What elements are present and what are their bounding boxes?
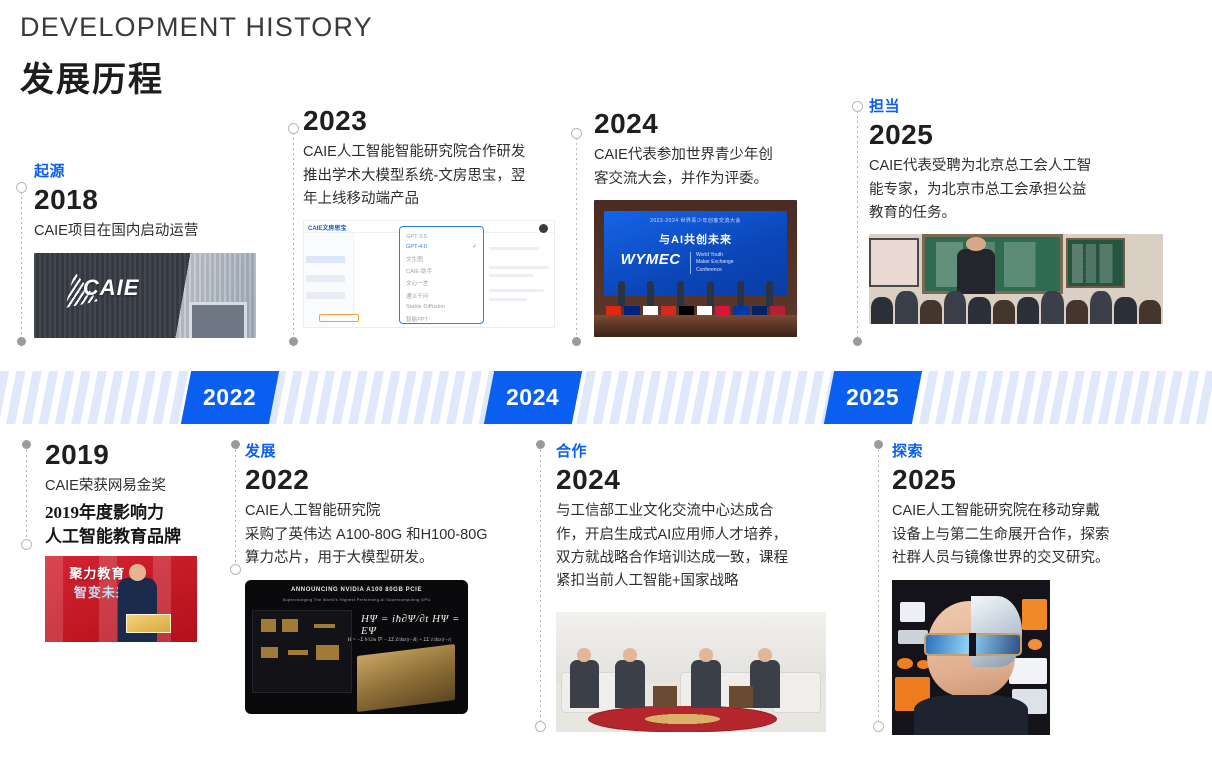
chip-icon xyxy=(314,624,336,628)
connector-dot-solid xyxy=(17,337,26,346)
chat-message-line xyxy=(489,266,549,269)
band-year-marker-2025[interactable]: 2025 xyxy=(824,371,922,424)
award-plaque xyxy=(126,614,172,633)
prompt-chip[interactable] xyxy=(319,314,359,322)
event-image-conference[interactable]: 2023-2024 世界青少年创客交流大会 与AI共创未来 WYMEC Worl… xyxy=(594,200,797,337)
connector-line xyxy=(21,182,22,346)
chat-message-line xyxy=(489,274,534,277)
band-year-label: 2025 xyxy=(846,384,899,411)
attendee-figure xyxy=(570,660,600,708)
chat-message-line xyxy=(489,298,527,301)
event-award-name: 2019年度影响力 人工智能教育品牌 xyxy=(45,501,235,550)
gpu-equation: HΨ = iħ∂Ψ/∂t HΨ = EΨ xyxy=(361,613,461,637)
carpet xyxy=(588,706,777,732)
connector-line xyxy=(26,440,27,550)
menu-item-model[interactable]: Stable Diffusion xyxy=(400,302,483,312)
app-brand-label: CAIE文房思宝 xyxy=(308,223,346,232)
connector-line xyxy=(235,440,236,575)
ui-panel xyxy=(897,658,913,669)
event-description: CAIE人工智能研究院在移动穿戴 设备上与第二生命展开合作，探索 社群人员与镜像… xyxy=(892,500,1182,570)
character-body xyxy=(914,695,1028,735)
stage-people xyxy=(606,274,785,307)
connector-dot-solid xyxy=(231,440,240,449)
connector-dot-solid xyxy=(289,337,298,346)
menu-item-model-selected[interactable]: ✓ GPT-4.0 xyxy=(400,242,483,252)
page-title-chinese: 发展历程 xyxy=(20,52,164,101)
chip-icon xyxy=(261,647,279,658)
connector-dot-hollow xyxy=(288,123,299,134)
event-tag: 探索 xyxy=(892,440,1182,461)
band-year-marker-2022[interactable]: 2022 xyxy=(181,371,279,424)
attendee-figure xyxy=(615,660,645,708)
event-year: 2025 xyxy=(892,463,1182,496)
event-year: 2022 xyxy=(245,463,535,496)
event-tag: 起源 xyxy=(34,160,259,181)
event-card-2022[interactable]: 发展 2022 CAIE人工智能研究院 采购了英伟达 A100-80G 和H10… xyxy=(245,440,535,714)
chip-icon xyxy=(316,645,340,660)
event-year: 2024 xyxy=(594,107,809,140)
country-flags xyxy=(606,306,785,315)
chat-message-line xyxy=(489,289,544,292)
conference-logo-english: World Youth Maker Exchange Conference xyxy=(690,252,734,275)
event-tag: 发展 xyxy=(245,440,535,461)
connector-line xyxy=(293,123,294,346)
ui-panel xyxy=(1022,599,1047,630)
connector-dot-hollow xyxy=(16,182,27,193)
conference-slogan: 与AI共创未来 xyxy=(604,231,787,247)
menu-item-model[interactable]: 文生图 xyxy=(400,252,483,264)
connector-line xyxy=(857,101,858,346)
connector-line xyxy=(540,440,541,732)
menu-item-model[interactable]: 智能PPT xyxy=(400,312,483,324)
side-table xyxy=(653,686,677,708)
event-image-award[interactable]: 聚力教育 智变未来 xyxy=(45,556,197,642)
event-year: 2018 xyxy=(34,183,259,216)
check-icon: ✓ xyxy=(472,244,477,250)
model-select-dropdown[interactable]: GPT-3.5 ✓ GPT-4.0 文生图 CAIE·助手 文心一言 通义千问 … xyxy=(399,226,484,325)
sidebar-conversation-item[interactable] xyxy=(306,275,344,282)
connector-dot-solid xyxy=(853,337,862,346)
building-window xyxy=(189,302,247,338)
ar-glasses-icon xyxy=(924,633,1022,656)
timeline-infographic: DEVELOPMENT HISTORY 发展历程 起源 2018 CAIE项目在… xyxy=(0,0,1212,761)
connector-dot-solid xyxy=(536,440,545,449)
connector-rail-2019 xyxy=(21,440,32,550)
chalk-writing xyxy=(1072,244,1118,283)
event-description: CAIE项目在国内启动运营 xyxy=(34,220,259,243)
band-year-marker-2024[interactable]: 2024 xyxy=(484,371,582,424)
connector-rail-2025-top xyxy=(852,101,863,346)
connector-dot-solid xyxy=(572,337,581,346)
avatar[interactable] xyxy=(539,224,548,233)
event-description: CAIE荣获网易金奖 xyxy=(45,475,235,498)
side-chalkboard xyxy=(1066,238,1125,288)
attendee-figure xyxy=(691,660,721,708)
timeline-band: 2022 2024 2025 xyxy=(0,371,1212,424)
event-image-chat-ui[interactable]: CAIE文房思宝 GPT-3.5 ✓ GPT-4.0 文生图 CAIE·助手 文… xyxy=(303,220,555,328)
attendee-figure xyxy=(750,660,780,708)
connector-rail-2023 xyxy=(288,123,299,346)
award-headline: 聚力教育 xyxy=(69,563,125,582)
stage-floor xyxy=(594,315,797,337)
connector-rail-2018 xyxy=(16,182,27,346)
event-card-2024-top[interactable]: 2024 CAIE代表参加世界青少年创 客交流大会，并作为评委。 2023-20… xyxy=(594,107,809,337)
side-table xyxy=(729,686,753,708)
conference-subtitle: 2023-2024 世界青少年创客交流大会 xyxy=(604,217,787,224)
caie-logo-text: CAIE xyxy=(83,275,140,301)
event-card-2025-bottom[interactable]: 探索 2025 CAIE人工智能研究院在移动穿戴 设备上与第二生命展开合作，探索… xyxy=(892,440,1182,735)
chip-icon xyxy=(261,619,277,632)
event-year: 2023 xyxy=(303,104,563,137)
gpu-spec-panel xyxy=(252,610,352,693)
event-image-ai-kid[interactable] xyxy=(892,580,1050,735)
event-image-caie-building[interactable]: CAIE xyxy=(34,253,256,338)
gpu-subline: Supercharging The World's Highest Perfor… xyxy=(245,597,468,602)
headset-icon xyxy=(971,596,1022,667)
connector-line xyxy=(576,128,577,346)
connector-dot-hollow xyxy=(535,721,546,732)
event-card-2024-bottom[interactable]: 合作 2024 与工信部工业文化交流中心达成合 作，开启生成式AI应用师人才培养… xyxy=(556,440,856,732)
band-year-label: 2024 xyxy=(506,384,559,411)
connector-rail-2024-bottom xyxy=(535,440,546,732)
event-image-meeting[interactable] xyxy=(556,612,826,732)
connector-rail-2025-bottom xyxy=(873,440,884,732)
connector-dot-hollow xyxy=(230,564,241,575)
connector-rail-2022 xyxy=(230,440,241,575)
event-card-2018[interactable]: 起源 2018 CAIE项目在国内启动运营 CAIE xyxy=(34,160,259,338)
connector-dot-solid xyxy=(874,440,883,449)
projector-screen xyxy=(869,238,919,287)
ui-panel xyxy=(900,602,925,622)
chat-message-line xyxy=(489,247,539,250)
sidebar-conversation-item[interactable] xyxy=(306,256,344,263)
event-card-2019[interactable]: 2019 CAIE荣获网易金奖 2019年度影响力 人工智能教育品牌 聚力教育 … xyxy=(45,438,235,642)
event-year: 2025 xyxy=(869,118,1169,151)
event-description: 与工信部工业文化交流中心达成合 作，开启生成式AI应用师人才培养， 双方就战略合… xyxy=(556,500,856,594)
ui-panel xyxy=(1028,639,1042,650)
event-tag: 担当 xyxy=(869,95,1169,116)
page-title-english: DEVELOPMENT HISTORY xyxy=(20,12,373,43)
band-year-label: 2022 xyxy=(203,384,256,411)
sidebar-conversation-item[interactable] xyxy=(306,292,344,299)
event-description: CAIE人工智能智能研究院合作研发 推出学术大模型系统-文房思宝，翌 年上线移动… xyxy=(303,141,563,211)
event-year: 2019 xyxy=(45,438,235,471)
gpu-headline: ANNOUNCING NVIDIA A100 80GB PCIE xyxy=(245,587,468,593)
connector-dot-hollow xyxy=(873,721,884,732)
event-card-2023[interactable]: 2023 CAIE人工智能智能研究院合作研发 推出学术大模型系统-文房思宝，翌 … xyxy=(303,104,563,328)
event-description: CAIE代表受聘为北京总工会人工智 能专家，为北京市总工会承担公益 教育的任务。 xyxy=(869,155,1169,225)
students-row xyxy=(869,287,1163,325)
gpu-equation-secondary: H = −Σ ħ²/2m ∇² − ΣΣ Z/4πε|r−R| + ΣΣ 1/4… xyxy=(348,637,462,643)
event-description: CAIE人工智能研究院 采购了英伟达 A100-80G 和H100-80G 算力… xyxy=(245,500,535,570)
connector-dot-hollow xyxy=(571,128,582,139)
event-image-gpu[interactable]: ANNOUNCING NVIDIA A100 80GB PCIE Superch… xyxy=(245,580,468,714)
menu-item-model[interactable]: 文心一言 xyxy=(400,277,483,289)
connector-dot-hollow xyxy=(21,539,32,550)
connector-dot-hollow xyxy=(852,101,863,112)
event-year: 2024 xyxy=(556,463,856,496)
conference-logo-text: WYMEC xyxy=(621,251,681,268)
event-tag: 合作 xyxy=(556,440,856,461)
connector-dot-solid xyxy=(22,440,31,449)
event-card-2025-top[interactable]: 担当 2025 CAIE代表受聘为北京总工会人工智 能专家，为北京市总工会承担公… xyxy=(869,95,1169,324)
event-description: CAIE代表参加世界青少年创 客交流大会，并作为评委。 xyxy=(594,144,809,191)
menu-item-model[interactable]: 通义千问 xyxy=(400,290,483,302)
menu-item-label: GPT-4.0 xyxy=(406,244,427,250)
gpu-product-render xyxy=(357,644,455,712)
chip-icon xyxy=(282,619,298,632)
connector-rail-2024-top xyxy=(571,128,582,346)
menu-item-model[interactable]: CAIE·助手 xyxy=(400,265,483,277)
event-image-classroom[interactable] xyxy=(869,234,1163,324)
chip-icon xyxy=(288,650,308,655)
menu-item-model[interactable]: GPT-3.5 xyxy=(400,232,483,242)
connector-line xyxy=(878,440,879,732)
